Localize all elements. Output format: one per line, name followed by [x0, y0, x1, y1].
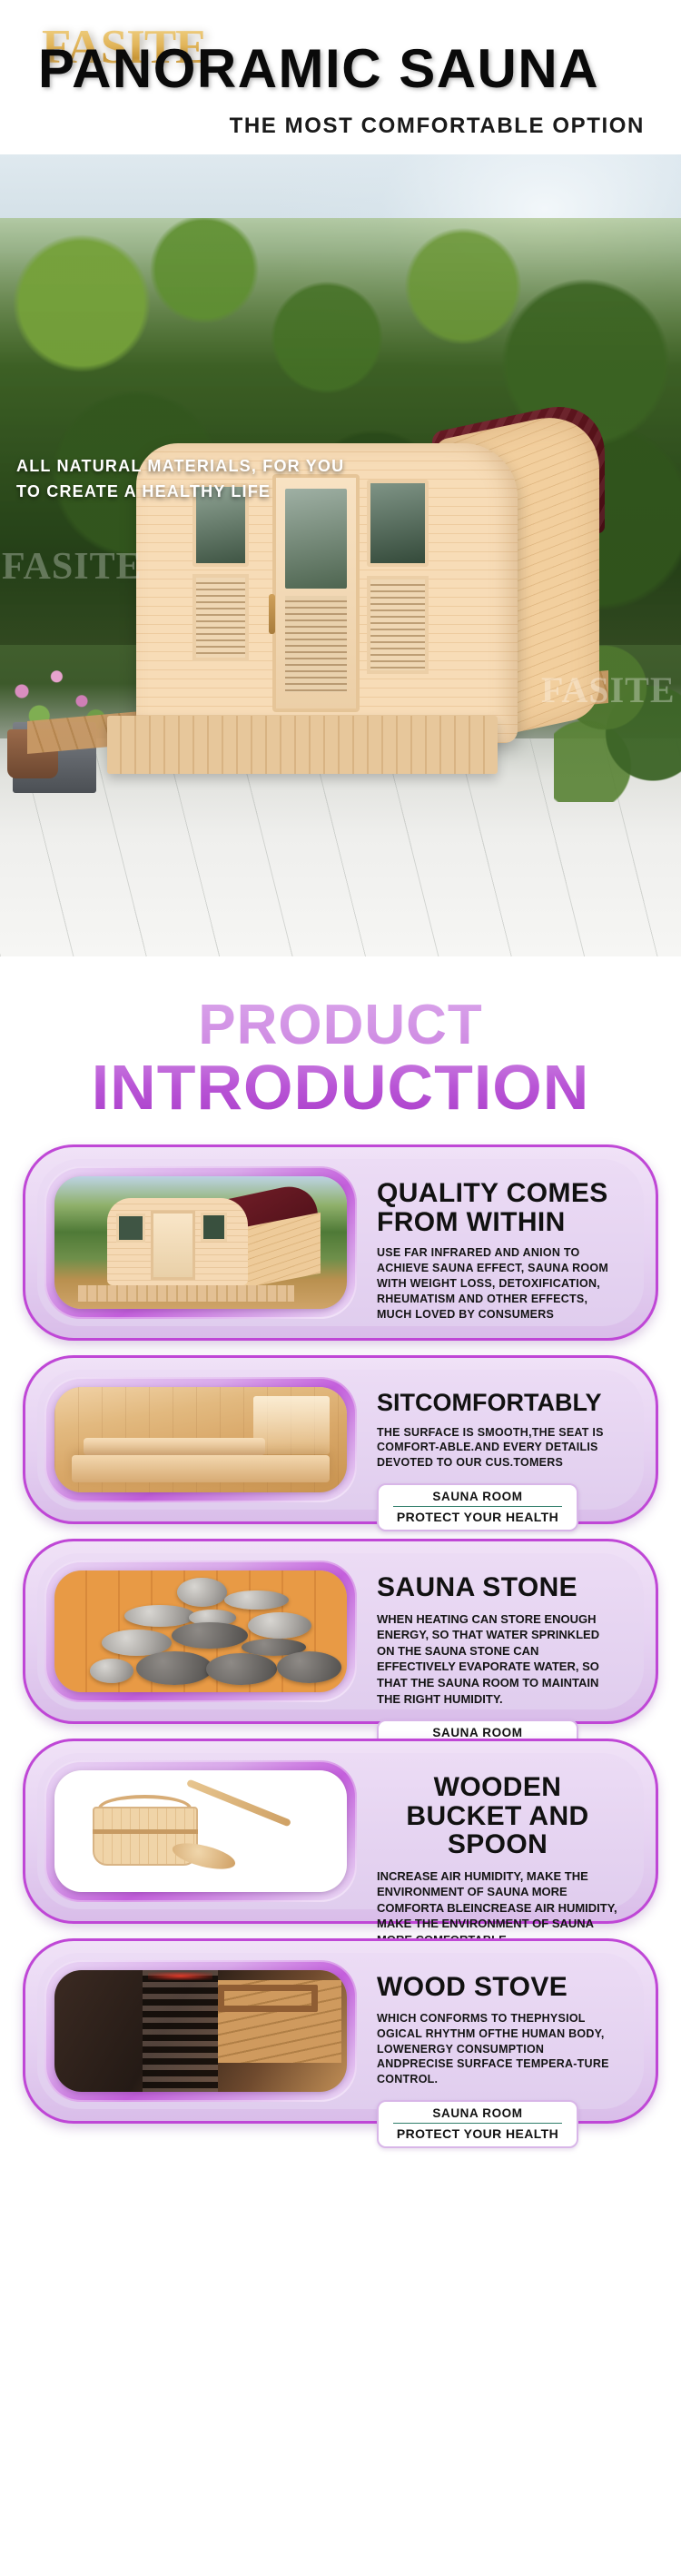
feature-card-body: WOODEN BUCKET AND SPOON INCREASE AIR HUM…: [357, 1760, 637, 1902]
photo-art: [54, 1970, 347, 2092]
feature-card[interactable]: SITCOMFORTABLY THE SURFACE IS SMOOTH,THE…: [23, 1355, 658, 1524]
feature-card-inner: WOODEN BUCKET AND SPOON INCREASE AIR HUM…: [37, 1753, 644, 1909]
feature-image-ring: [44, 1960, 357, 2102]
badge-divider: [393, 1506, 562, 1507]
page-subtitle: THE MOST COMFORTABLE OPTION: [0, 114, 645, 139]
feature-card[interactable]: WOOD STOVE WHICH CONFORMS TO THEPHYSIOL …: [23, 1938, 658, 2124]
feature-card-body: SAUNA STONE WHEN HEATING CAN STORE ENOUG…: [357, 1560, 637, 1702]
section-heading-line-1: PRODUCT: [0, 996, 681, 1055]
feature-card-body: QUALITY COMES FROM WITHIN USE FAR INFRAR…: [357, 1166, 637, 1319]
feature-card-description: INCREASE AIR HUMIDITY, MAKE THE ENVIRONM…: [377, 1868, 618, 1948]
feature-card-description: WHICH CONFORMS TO THEPHYSIOL OGICAL RHYT…: [377, 2011, 618, 2087]
feature-card-title: WOOD STOVE: [377, 1973, 618, 2002]
feature-card-description: USE FAR INFRARED AND ANION TO ACHIEVE SA…: [377, 1245, 618, 1322]
badge-line-1: SAUNA ROOM: [386, 1490, 569, 1506]
hero-door-handle: [269, 594, 275, 634]
feature-card[interactable]: WOODEN BUCKET AND SPOON INCREASE AIR HUM…: [23, 1739, 658, 1924]
feature-card-title: WOODEN BUCKET AND SPOON: [377, 1773, 618, 1859]
outdoor-sauna-cabin-photo: [54, 1176, 347, 1309]
feature-card-title: QUALITY COMES FROM WITHIN: [377, 1179, 618, 1236]
photo-art: [54, 1570, 347, 1692]
feature-image-ring: [44, 1377, 357, 1502]
feature-image-ring: [44, 1166, 357, 1319]
hero-watermark-right: FASITE: [541, 669, 676, 711]
feature-card[interactable]: SAUNA STONE WHEN HEATING CAN STORE ENOUG…: [23, 1539, 658, 1724]
feature-card-inner: SITCOMFORTABLY THE SURFACE IS SMOOTH,THE…: [37, 1370, 644, 1510]
page-header: FASITE PANORAMIC SAUNA THE MOST COMFORTA…: [0, 0, 681, 154]
photo-art: [54, 1176, 347, 1309]
badge-line-2: PROTECT YOUR HEALTH: [386, 2126, 569, 2141]
hero-cabin-louver-right: [367, 576, 429, 674]
feature-card-body: SITCOMFORTABLY THE SURFACE IS SMOOTH,THE…: [357, 1377, 637, 1502]
hero-cabin-door: [272, 474, 360, 712]
feature-card-description: THE SURFACE IS SMOOTH,THE SEAT IS COMFOR…: [377, 1425, 618, 1471]
sauna-interior-bench-photo: [54, 1387, 347, 1492]
badge-divider: [393, 2123, 562, 2124]
badge-line-2: PROTECT YOUR HEALTH: [386, 1510, 569, 1524]
feature-card-title: SITCOMFORTABLY: [377, 1390, 618, 1415]
hero-cabin-step: [107, 716, 498, 774]
feature-card-list: QUALITY COMES FROM WITHIN USE FAR INFRAR…: [0, 1121, 681, 2156]
hero-door-louver: [285, 596, 347, 692]
feature-card-description: WHEN HEATING CAN STORE ENOUGH ENERGY, SO…: [377, 1611, 618, 1707]
product-introduction-section: PRODUCT INTRODUCTION: [0, 956, 681, 1121]
feature-image-ring: [44, 1760, 357, 1902]
feature-card-inner: WOOD STOVE WHICH CONFORMS TO THEPHYSIOL …: [37, 1953, 644, 2109]
sauna-room-badge[interactable]: SAUNA ROOM PROTECT YOUR HEALTH: [377, 1483, 578, 1531]
feature-card[interactable]: QUALITY COMES FROM WITHIN USE FAR INFRAR…: [23, 1144, 658, 1341]
wood-stove-heater-photo: [54, 1970, 347, 2092]
section-heading-line-2: INTRODUCTION: [0, 1055, 681, 1121]
feature-image-ring: [44, 1560, 357, 1702]
feature-card-body: WOOD STOVE WHICH CONFORMS TO THEPHYSIOL …: [357, 1960, 637, 2102]
photo-art: [54, 1387, 347, 1492]
sauna-stones-photo: [54, 1570, 347, 1692]
wooden-bucket-and-spoon-photo: [54, 1770, 347, 1892]
feature-card-title: SAUNA STONE: [377, 1573, 618, 1602]
page-title: PANORAMIC SAUNA: [38, 42, 674, 96]
hero-overlay-line-2: TO CREATE A HEALTHY LIFE: [16, 480, 507, 505]
feature-card-inner: QUALITY COMES FROM WITHIN USE FAR INFRAR…: [37, 1159, 644, 1326]
photo-art: [54, 1770, 347, 1892]
hero-overlay-line-1: ALL NATURAL MATERIALS, FOR YOU: [16, 454, 507, 480]
section-heading: PRODUCT INTRODUCTION: [0, 996, 681, 1121]
hero-watermark-left: FASITE: [2, 545, 143, 589]
feature-card-inner: SAUNA STONE WHEN HEATING CAN STORE ENOUG…: [37, 1553, 644, 1709]
hero-banner: ALL NATURAL MATERIALS, FOR YOU TO CREATE…: [0, 154, 681, 956]
hero-overlay-text: ALL NATURAL MATERIALS, FOR YOU TO CREATE…: [16, 454, 507, 505]
badge-line-1: SAUNA ROOM: [386, 2106, 569, 2123]
sauna-room-badge[interactable]: SAUNA ROOM PROTECT YOUR HEALTH: [377, 2100, 578, 2148]
hero-cabin-louver-left: [192, 574, 249, 661]
